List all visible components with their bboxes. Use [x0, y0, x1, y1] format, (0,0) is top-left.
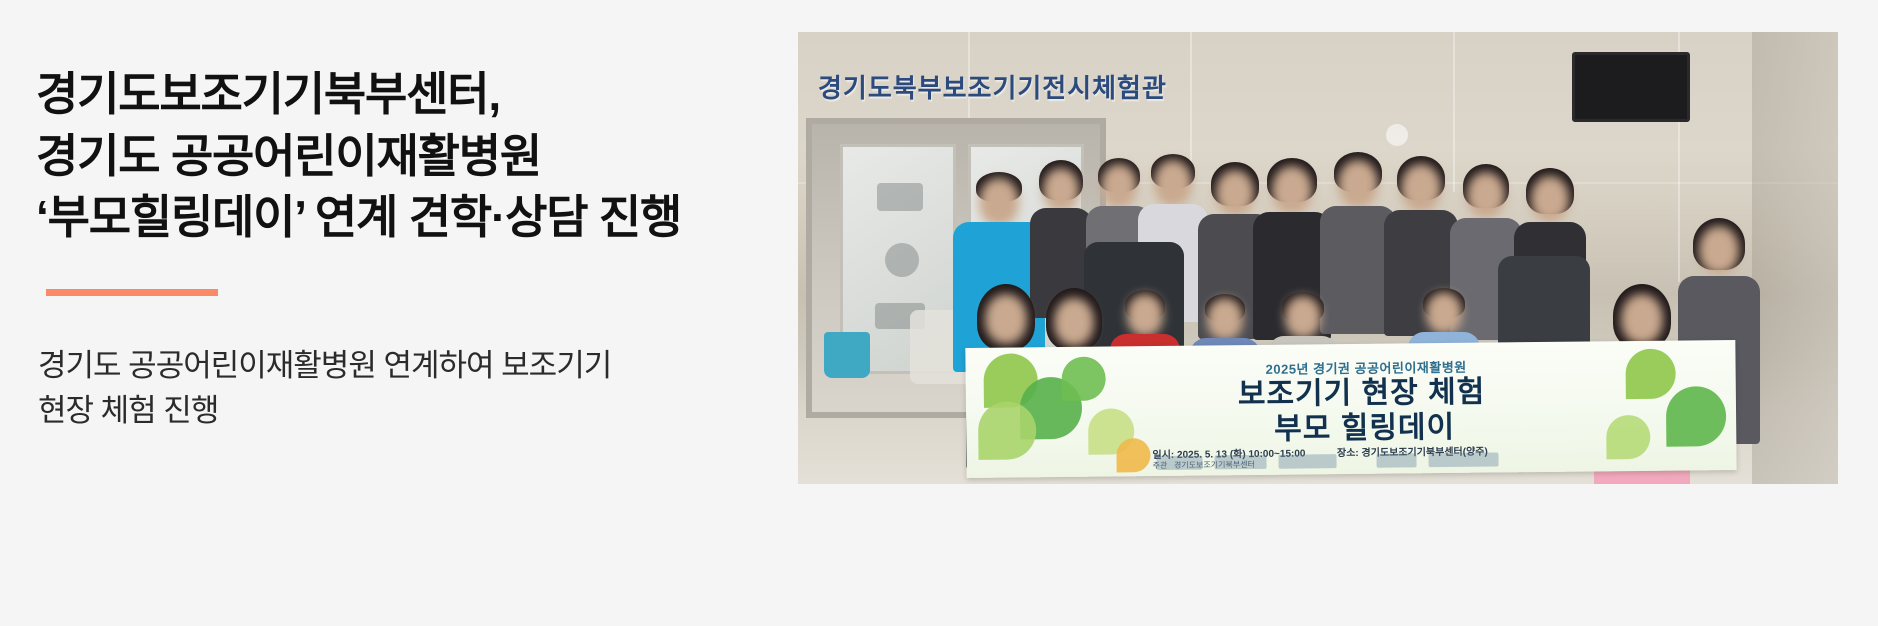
sponsor-logo [1278, 454, 1336, 469]
accent-divider [46, 289, 218, 296]
clover-icon [1116, 438, 1150, 472]
sponsor-logo [1214, 455, 1266, 470]
headline-line-2: 경기도 공공어린이재활병원 [36, 126, 776, 188]
sponsor-logo [1428, 452, 1498, 467]
sponsor-logo [1156, 456, 1202, 470]
banner-title: 보조기기 현장 체험 부모 힐링데이 [1238, 375, 1486, 448]
clover-icon [1625, 349, 1676, 400]
page-title: 경기도보조기기북부센터, 경기도 공공어린이재활병원 ‘부모힐링데이’ 연계 견… [36, 64, 776, 249]
article-photo: 경기도북부보조기기전시체험관 [798, 32, 1838, 484]
headline-line-1: 경기도보조기기북부센터, [36, 64, 776, 126]
clover-icon [1666, 386, 1727, 447]
clover-icon [1061, 357, 1105, 401]
summary-line-2: 현장 체험 진행 [38, 389, 776, 434]
banner-place-label: 장소 [1337, 448, 1356, 459]
clover-icon [1606, 415, 1650, 459]
article-text-column: 경기도보조기기북부센터, 경기도 공공어린이재활병원 ‘부모힐링데이’ 연계 견… [36, 64, 776, 434]
headline-line-3: ‘부모힐링데이’ 연계 견학·상담 진행 [36, 187, 776, 249]
event-banner: 2025년 경기권 공공어린이재활병원 보조기기 현장 체험 부모 힐링데이 일… [965, 340, 1736, 478]
news-article-card: 경기도보조기기북부센터, 경기도 공공어린이재활병원 ‘부모힐링데이’ 연계 견… [0, 0, 1878, 626]
article-summary: 경기도 공공어린이재활병원 연계하여 보조기기 현장 체험 진행 [38, 344, 776, 434]
summary-line-1: 경기도 공공어린이재활병원 연계하여 보조기기 [38, 344, 776, 389]
sponsor-logo [1376, 453, 1416, 467]
banner-title-line-1: 보조기기 현장 체험 [1238, 376, 1486, 412]
clover-icon [978, 401, 1037, 460]
